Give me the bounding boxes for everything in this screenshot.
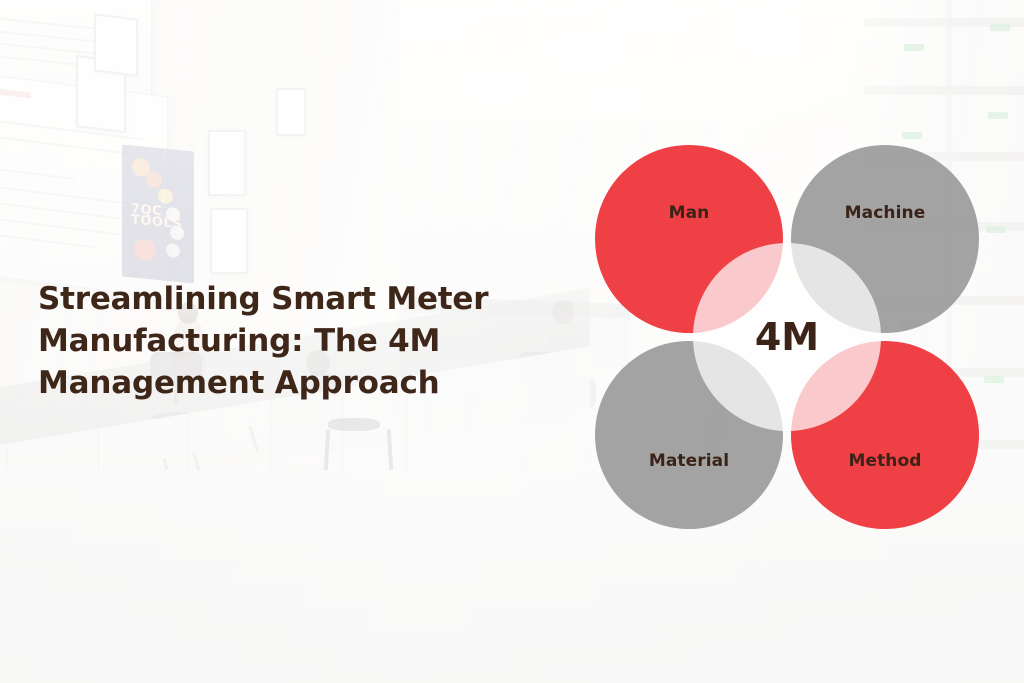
page-title: Streamlining Smart Meter Manufacturing: … [38,278,598,404]
venn-label-man: Man [669,203,710,223]
venn-circle-center[interactable]: 4M [693,243,881,431]
four-m-venn-diagram: Man Machine Material Method 4M [595,145,980,530]
venn-label-center: 4M [755,315,819,359]
venn-label-material: Material [649,451,729,471]
venn-label-machine: Machine [845,203,926,223]
venn-label-method: Method [848,451,921,471]
hero-banner: 7QC TOOLS [0,0,1024,683]
